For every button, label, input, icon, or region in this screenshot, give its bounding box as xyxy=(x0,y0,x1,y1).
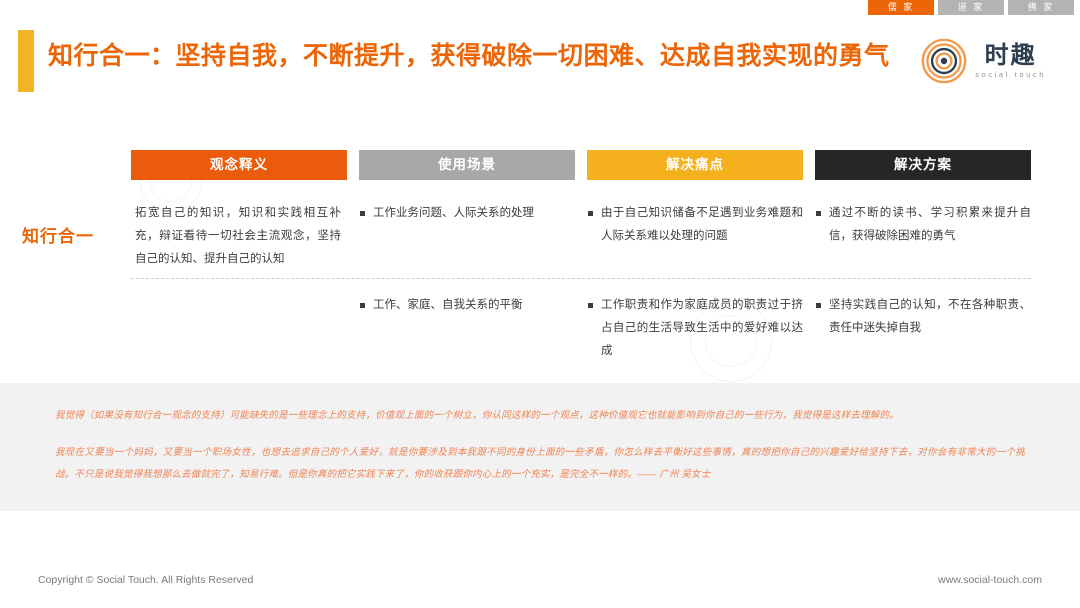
matrix-header-row: 观念释义 使用场景 解决痛点 解决方案 xyxy=(131,150,1031,180)
cell-bullet: 工作职责和作为家庭成员的职责过于挤占自己的生活导致生活中的爱好难以达成 xyxy=(587,294,803,363)
footer-url[interactable]: www.social-touch.com xyxy=(938,574,1042,586)
matrix-row: 工作、家庭、自我关系的平衡 工作职责和作为家庭成员的职责过于挤占自己的生活导致生… xyxy=(131,294,1031,363)
matrix-cell: 由于自己知识储备不足遇到业务难题和人际关系难以处理的问题 xyxy=(587,202,803,248)
matrix-cell: 工作职责和作为家庭成员的职责过于挤占自己的生活导致生活中的爱好难以达成 xyxy=(587,294,803,363)
matrix-row: 拓宽自己的知识，知识和实践相互补充，辩证看待一切社会主流观念，坚持自己的认知、提… xyxy=(131,202,1031,280)
brand-logo-text: 时趣 social touch xyxy=(975,43,1046,79)
column-header-painpoint[interactable]: 解决痛点 xyxy=(587,150,803,180)
title-accent-bar xyxy=(18,30,34,92)
brand-name-en: social touch xyxy=(975,70,1046,79)
column-header-solution[interactable]: 解决方案 xyxy=(815,150,1031,180)
brand-logo: 时趣 social touch xyxy=(921,38,1046,84)
cell-bullet: 由于自己知识储备不足遇到业务难题和人际关系难以处理的问题 xyxy=(587,202,803,248)
matrix-cell: 通过不断的读书、学习积累来提升自信，获得破除困难的勇气 xyxy=(815,202,1031,248)
quote-paragraph-2: 我现在又要当一个妈妈，又要当一个职场女性，也想去追求自己的个人爱好，就是你要涉及… xyxy=(55,442,1025,485)
matrix-cell: 工作业务问题、人际关系的处理 xyxy=(359,202,575,225)
matrix-cell: 坚持实践自己的认知，不在各种职责、责任中迷失掉自我 xyxy=(815,294,1031,340)
matrix-cell: 拓宽自己的知识，知识和实践相互补充，辩证看待一切社会主流观念，坚持自己的认知、提… xyxy=(131,202,347,271)
cell-bullet: 工作业务问题、人际关系的处理 xyxy=(359,202,575,225)
content-matrix: 观念释义 使用场景 解决痛点 解决方案 拓宽自己的知识，知识和实践相互补充，辩证… xyxy=(131,150,1031,363)
brand-name-cn: 时趣 xyxy=(985,43,1037,68)
cell-bullet: 坚持实践自己的认知，不在各种职责、责任中迷失掉自我 xyxy=(815,294,1031,340)
matrix-cell: 工作、家庭、自我关系的平衡 xyxy=(359,294,575,317)
cell-bullet: 通过不断的读书、学习积累来提升自信，获得破除困难的勇气 xyxy=(815,202,1031,248)
page-title: 知行合一：坚持自我，不断提升，获得破除一切困难、达成自我实现的勇气 xyxy=(48,37,908,75)
cell-bullet: 工作、家庭、自我关系的平衡 xyxy=(359,294,575,317)
row-divider xyxy=(131,278,1031,279)
top-tab-strip: 儒 家 道 家 佛 家 xyxy=(868,0,1080,15)
cell-text: 拓宽自己的知识，知识和实践相互补充，辩证看待一切社会主流观念，坚持自己的认知、提… xyxy=(131,202,347,271)
row-label: 知行合一 xyxy=(22,222,94,247)
column-header-scenario[interactable]: 使用场景 xyxy=(359,150,575,180)
quote-panel: 我觉得（如果没有知行合一观念的支持）可能缺失的是一些理念上的支持，价值观上面的一… xyxy=(0,383,1080,511)
quote-paragraph-1: 我觉得（如果没有知行合一观念的支持）可能缺失的是一些理念上的支持，价值观上面的一… xyxy=(55,405,1025,426)
concentric-circles-icon xyxy=(921,38,967,84)
tab-buddhism[interactable]: 佛 家 xyxy=(1008,0,1074,15)
column-header-concept[interactable]: 观念释义 xyxy=(131,150,347,180)
tab-taoism[interactable]: 道 家 xyxy=(938,0,1004,15)
footer-copyright: Copyright © Social Touch. All Rights Res… xyxy=(38,574,253,586)
tab-confucianism[interactable]: 儒 家 xyxy=(868,0,934,15)
